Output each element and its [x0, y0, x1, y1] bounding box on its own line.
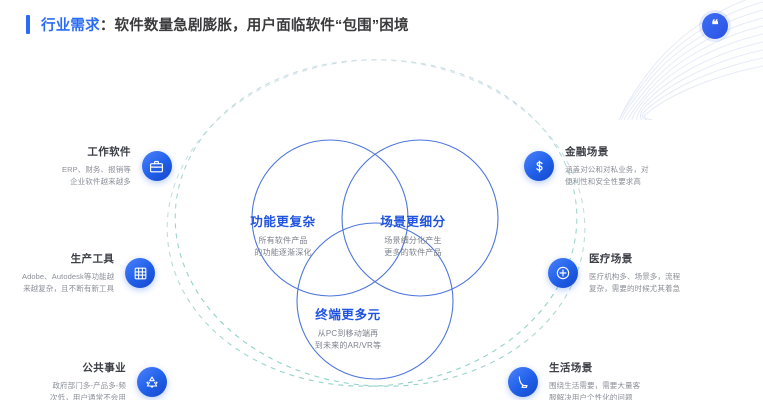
design-grid-icon	[125, 258, 155, 288]
item-life-scenario-desc-l1: 围绕生活需要，需要大量客	[549, 380, 640, 392]
venn-title-terminals: 终端更多元	[273, 304, 423, 323]
item-medical-scenario[interactable]: 医疗场景 医疗机构多、场景多，流程 复杂，需要的时候尤其着急	[548, 251, 680, 295]
diagram-stage: 功能更复杂 所有软件产品 的功能逐渐深化 场景更细分 场景细分化产生 更多的软件…	[0, 48, 763, 400]
item-public-services-text: 公共事业 政府部门多-产品多-频 次低，用户通常不会用	[50, 360, 126, 400]
item-production-tools[interactable]: 生产工具 Adobe、Autodesk等功能越 来越复杂，且不断有新工具	[22, 251, 155, 295]
venn-title-scenarios: 场景更细分	[338, 211, 488, 230]
item-life-scenario-name: 生活场景	[549, 360, 593, 375]
medical-cross-icon	[548, 258, 578, 288]
quote-glyph: ❝	[712, 19, 719, 32]
page-title: 行业需求：软件数量急剧膨胀，用户面临软件“包围”困境	[41, 14, 409, 35]
item-medical-scenario-desc: 医疗机构多、场景多，流程 复杂，需要的时候尤其着急	[589, 271, 680, 295]
item-production-tools-desc: Adobe、Autodesk等功能越 来越复杂，且不断有新工具	[22, 271, 114, 295]
item-finance-scenario[interactable]: 金融场景 涵盖对公和对私业务，对 便利性和安全性要求高	[524, 144, 649, 188]
dollar-icon	[524, 151, 554, 181]
title-accent-bar	[26, 15, 30, 34]
briefcase-icon	[142, 151, 172, 181]
item-finance-scenario-desc: 涵盖对公和对私业务，对 便利性和安全性要求高	[565, 164, 649, 188]
slide-header: 行业需求：软件数量急剧膨胀，用户面临软件“包围”困境	[0, 0, 763, 48]
item-production-tools-name: 生产工具	[71, 251, 115, 266]
page-title-rest: ：软件数量急剧膨胀，用户面临软件“包围”困境	[100, 18, 409, 34]
item-work-software-desc-l2: 企业软件越来越多	[62, 176, 131, 188]
item-finance-scenario-text: 金融场景 涵盖对公和对私业务，对 便利性和安全性要求高	[565, 144, 649, 188]
venn-desc-terminals-l2: 到未来的AR/VR等	[273, 340, 423, 352]
venn-desc-functions: 所有软件产品 的功能逐渐深化	[208, 235, 358, 260]
recycle-icon	[137, 367, 167, 397]
item-public-services-desc-l2: 次低，用户通常不会用	[50, 392, 126, 400]
item-finance-scenario-desc-l2: 便利性和安全性要求高	[565, 176, 649, 188]
item-public-services[interactable]: 公共事业 政府部门多-产品多-频 次低，用户通常不会用	[50, 360, 167, 400]
high-heel-icon	[508, 367, 538, 397]
venn-desc-functions-l1: 所有软件产品	[208, 235, 358, 247]
venn-desc-scenarios-l1: 场景细分化产生	[338, 235, 488, 247]
item-production-tools-desc-l2: 来越复杂，且不断有新工具	[22, 283, 114, 295]
item-life-scenario[interactable]: 生活场景 围绕生活需要，需要大量客 服解决用户个性化的问题	[508, 360, 640, 400]
item-public-services-name: 公共事业	[82, 360, 126, 375]
item-life-scenario-text: 生活场景 围绕生活需要，需要大量客 服解决用户个性化的问题	[549, 360, 640, 400]
item-work-software-text: 工作软件 ERP、财务、报销等 企业软件越来越多	[62, 144, 131, 188]
venn-desc-terminals-l1: 从PC到移动端再	[273, 328, 423, 340]
item-production-tools-desc-l1: Adobe、Autodesk等功能越	[22, 271, 114, 283]
item-life-scenario-desc: 围绕生活需要，需要大量客 服解决用户个性化的问题	[549, 380, 640, 400]
page-title-highlight: 行业需求	[41, 18, 100, 34]
venn-desc-functions-l2: 的功能逐渐深化	[208, 247, 358, 259]
item-work-software-desc: ERP、财务、报销等 企业软件越来越多	[62, 164, 131, 188]
venn-desc-scenarios-l2: 更多的软件产品	[338, 247, 488, 259]
venn-label-functions: 功能更复杂 所有软件产品 的功能逐渐深化	[208, 211, 358, 260]
item-work-software[interactable]: 工作软件 ERP、财务、报销等 企业软件越来越多	[62, 144, 172, 188]
venn-desc-scenarios: 场景细分化产生 更多的软件产品	[338, 235, 488, 260]
venn-desc-terminals: 从PC到移动端再 到未来的AR/VR等	[273, 328, 423, 353]
item-finance-scenario-name: 金融场景	[565, 144, 609, 159]
item-medical-scenario-desc-l1: 医疗机构多、场景多，流程	[589, 271, 680, 283]
item-medical-scenario-name: 医疗场景	[589, 251, 633, 266]
item-finance-scenario-desc-l1: 涵盖对公和对私业务，对	[565, 164, 649, 176]
item-medical-scenario-desc-l2: 复杂，需要的时候尤其着急	[589, 283, 680, 295]
item-public-services-desc-l1: 政府部门多-产品多-频	[50, 380, 126, 392]
item-production-tools-text: 生产工具 Adobe、Autodesk等功能越 来越复杂，且不断有新工具	[22, 251, 114, 295]
venn-label-terminals: 终端更多元 从PC到移动端再 到未来的AR/VR等	[273, 304, 423, 353]
item-public-services-desc: 政府部门多-产品多-频 次低，用户通常不会用	[50, 380, 126, 400]
item-work-software-name: 工作软件	[87, 144, 131, 159]
item-life-scenario-desc-l2: 服解决用户个性化的问题	[549, 392, 640, 400]
venn-label-scenarios: 场景更细分 场景细分化产生 更多的软件产品	[338, 211, 488, 260]
quote-badge-icon: ❝	[702, 13, 728, 39]
venn-title-functions: 功能更复杂	[208, 211, 358, 230]
item-work-software-desc-l1: ERP、财务、报销等	[62, 164, 131, 176]
item-medical-scenario-text: 医疗场景 医疗机构多、场景多，流程 复杂，需要的时候尤其着急	[589, 251, 680, 295]
